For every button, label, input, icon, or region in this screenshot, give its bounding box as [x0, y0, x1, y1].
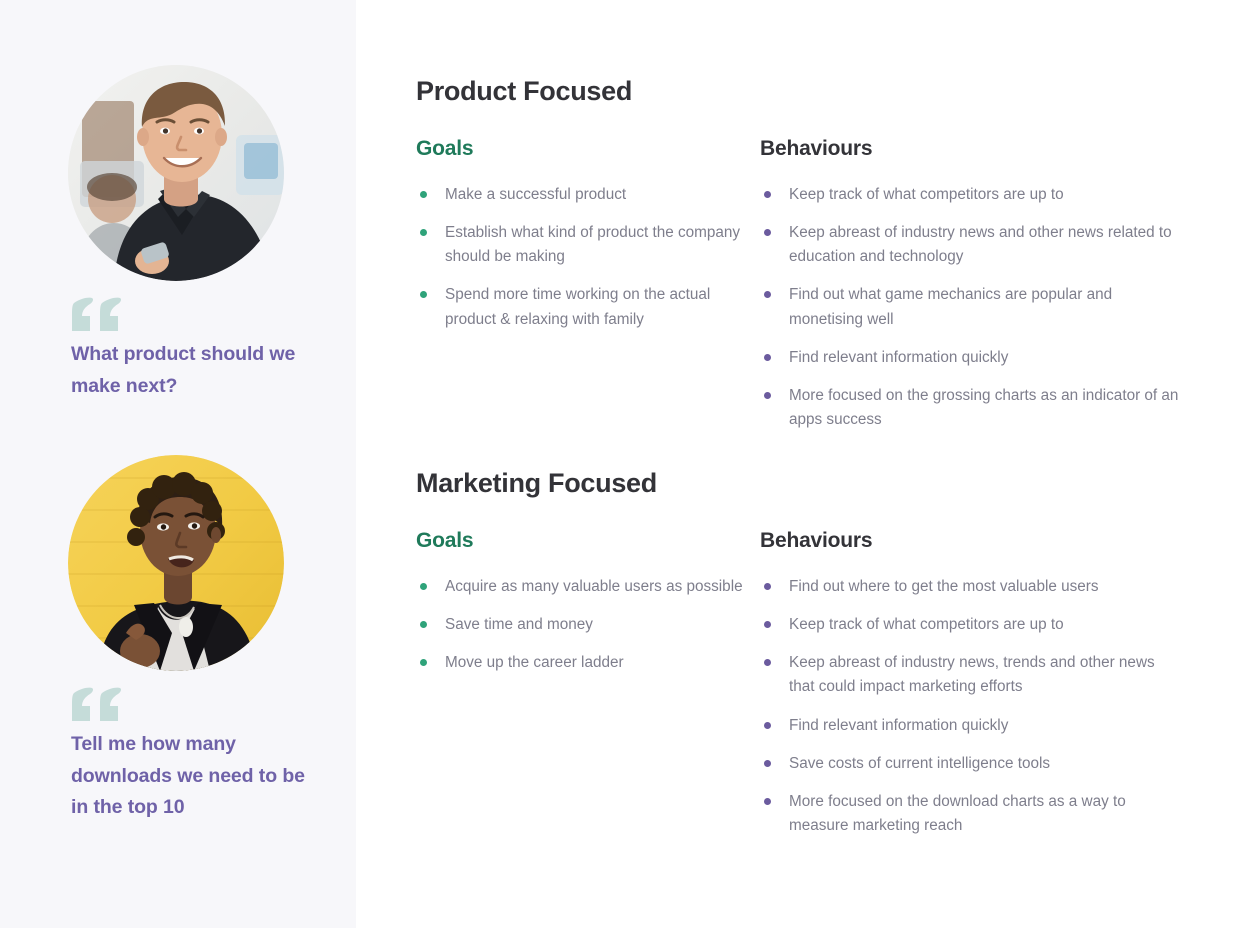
list-item: More focused on the grossing charts as a…: [760, 384, 1180, 432]
list-item: Make a successful product: [416, 183, 760, 207]
list-item: Spend more time working on the actual pr…: [416, 283, 760, 331]
section-marketing-focused: Marketing Focused Goals Acquire as many …: [416, 468, 1242, 852]
persona-photo-marketer-image: [68, 455, 284, 671]
list-item: Save costs of current intelligence tools: [760, 752, 1180, 776]
list-item: Establish what kind of product the compa…: [416, 221, 760, 269]
behaviours-list: Find out where to get the most valuable …: [760, 575, 1180, 838]
quote-mark-icon: [70, 687, 122, 721]
persona-detail-panel: Product Focused Goals Make a successful …: [356, 0, 1242, 928]
behaviours-heading: Behaviours: [760, 529, 1180, 553]
persona-photo-product-manager-image: [68, 65, 284, 281]
goals-list: Acquire as many valuable users as possib…: [416, 575, 760, 675]
list-item: Save time and money: [416, 613, 760, 637]
list-item: More focused on the download charts as a…: [760, 790, 1180, 838]
section-columns: Goals Make a successful product Establis…: [416, 137, 1242, 446]
section-columns: Goals Acquire as many valuable users as …: [416, 529, 1242, 852]
goals-column: Goals Acquire as many valuable users as …: [416, 529, 760, 852]
quote-mark-icon: [70, 297, 122, 331]
persona-card-marketing: Tell me how many downloads we need to be…: [0, 455, 356, 824]
persona-quote: What product should we make next?: [71, 339, 321, 402]
persona-card-product: What product should we make next?: [0, 65, 356, 402]
list-item: Keep abreast of industry news, trends an…: [760, 651, 1180, 699]
section-product-focused: Product Focused Goals Make a successful …: [416, 76, 1242, 446]
section-title: Marketing Focused: [416, 468, 1242, 499]
persona-photo-marketer: [68, 455, 284, 671]
list-item: Find relevant information quickly: [760, 714, 1180, 738]
list-item: Keep track of what competitors are up to: [760, 613, 1180, 637]
goals-heading: Goals: [416, 529, 760, 553]
list-item: Find out where to get the most valuable …: [760, 575, 1180, 599]
goals-list: Make a successful product Establish what…: [416, 183, 760, 332]
persona-quote: Tell me how many downloads we need to be…: [71, 729, 321, 824]
persona-photo-product-manager: [68, 65, 284, 281]
list-item: Find relevant information quickly: [760, 346, 1180, 370]
section-title: Product Focused: [416, 76, 1242, 107]
list-item: Find out what game mechanics are popular…: [760, 283, 1180, 331]
goals-column: Goals Make a successful product Establis…: [416, 137, 760, 446]
list-item: Keep abreast of industry news and other …: [760, 221, 1180, 269]
behaviours-list: Keep track of what competitors are up to…: [760, 183, 1180, 432]
behaviours-column: Behaviours Find out where to get the mos…: [760, 529, 1180, 852]
behaviours-column: Behaviours Keep track of what competitor…: [760, 137, 1180, 446]
list-item: Keep track of what competitors are up to: [760, 183, 1180, 207]
persona-sidebar: What product should we make next?: [0, 0, 356, 928]
list-item: Move up the career ladder: [416, 651, 760, 675]
list-item: Acquire as many valuable users as possib…: [416, 575, 760, 599]
behaviours-heading: Behaviours: [760, 137, 1180, 161]
goals-heading: Goals: [416, 137, 760, 161]
